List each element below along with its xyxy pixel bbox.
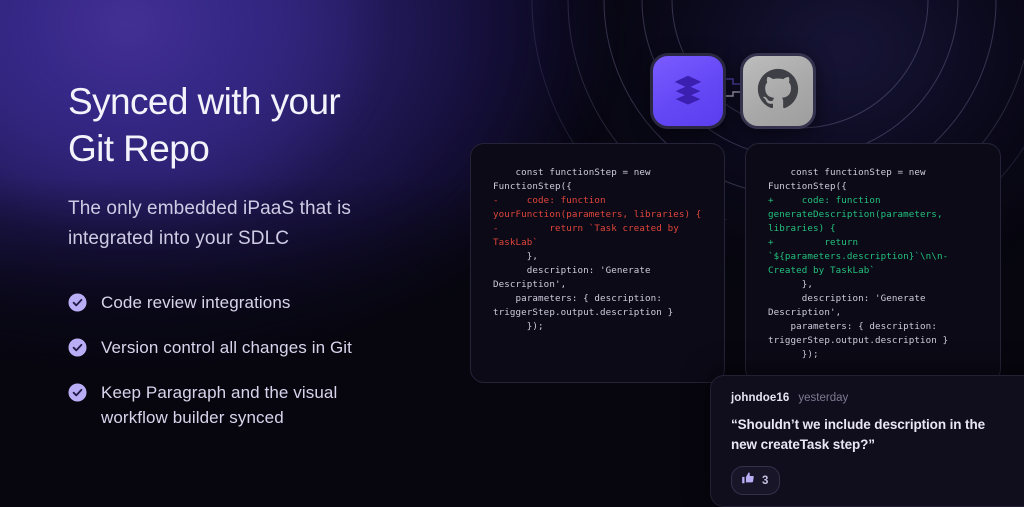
comment-body: “Shouldn’t we include description in the… [731, 415, 999, 455]
code-line: }); [768, 349, 819, 360]
thumbs-up-icon [741, 471, 755, 490]
code-panel-before: const functionStep = new FunctionStep({ … [470, 143, 725, 383]
code-line: const functionStep = new FunctionStep({ [768, 167, 931, 192]
page-title: Synced with your Git Repo [68, 78, 468, 172]
feature-item: Keep Paragraph and the visual workflow b… [68, 380, 468, 430]
comment-author[interactable]: johndoe16 [731, 392, 789, 404]
code-line-deleted: - return `Task created by TaskLab` [493, 223, 684, 248]
code-line: const functionStep = new FunctionStep({ [493, 167, 656, 192]
github-node[interactable] [740, 53, 816, 129]
hero-text-column: Synced with your Git Repo The only embed… [68, 78, 468, 430]
layers-stack-icon [669, 70, 707, 113]
headline-line-1: Synced with your [68, 81, 340, 122]
feature-list: Code review integrations Version control… [68, 290, 468, 430]
comment-timestamp: yesterday [798, 392, 848, 404]
feature-label: Version control all changes in Git [101, 335, 352, 360]
feature-label: Code review integrations [101, 290, 291, 315]
code-line: parameters: { description: triggerStep.o… [493, 293, 673, 318]
feature-label: Keep Paragraph and the visual workflow b… [101, 380, 401, 430]
code-line: parameters: { description: triggerStep.o… [768, 321, 948, 346]
code-line: description: 'Generate Description', [768, 293, 931, 318]
subheadline: The only embedded iPaaS that is integrat… [68, 194, 398, 254]
code-line: }); [493, 321, 544, 332]
reaction-thumbs-up-button[interactable]: 3 [731, 466, 780, 495]
code-line-deleted: - code: function yourFunction(parameters… [493, 195, 701, 220]
code-line: }, [493, 251, 538, 262]
reaction-count: 3 [762, 475, 768, 487]
code-line: description: 'Generate Description', [493, 265, 656, 290]
paragraph-app-node[interactable] [650, 53, 726, 129]
check-circle-icon [68, 293, 87, 312]
code-line-added: + code: function generateDescription(par… [768, 195, 948, 234]
check-circle-icon [68, 383, 87, 402]
check-circle-icon [68, 338, 87, 357]
headline-line-2: Git Repo [68, 125, 468, 172]
code-panel-after: const functionStep = new FunctionStep({ … [745, 143, 1001, 383]
github-icon [757, 68, 799, 115]
code-body-before: const functionStep = new FunctionStep({ … [471, 144, 724, 334]
code-line-added: + return `${parameters.description}`\n\n… [768, 237, 954, 276]
feature-item: Version control all changes in Git [68, 335, 468, 360]
comment-card: johndoe16 yesterday “Shouldn’t we includ… [710, 375, 1024, 507]
comment-meta: johndoe16 yesterday [731, 392, 1019, 404]
code-body-after: const functionStep = new FunctionStep({ … [746, 144, 1000, 362]
code-line: }, [768, 279, 813, 290]
feature-item: Code review integrations [68, 290, 468, 315]
